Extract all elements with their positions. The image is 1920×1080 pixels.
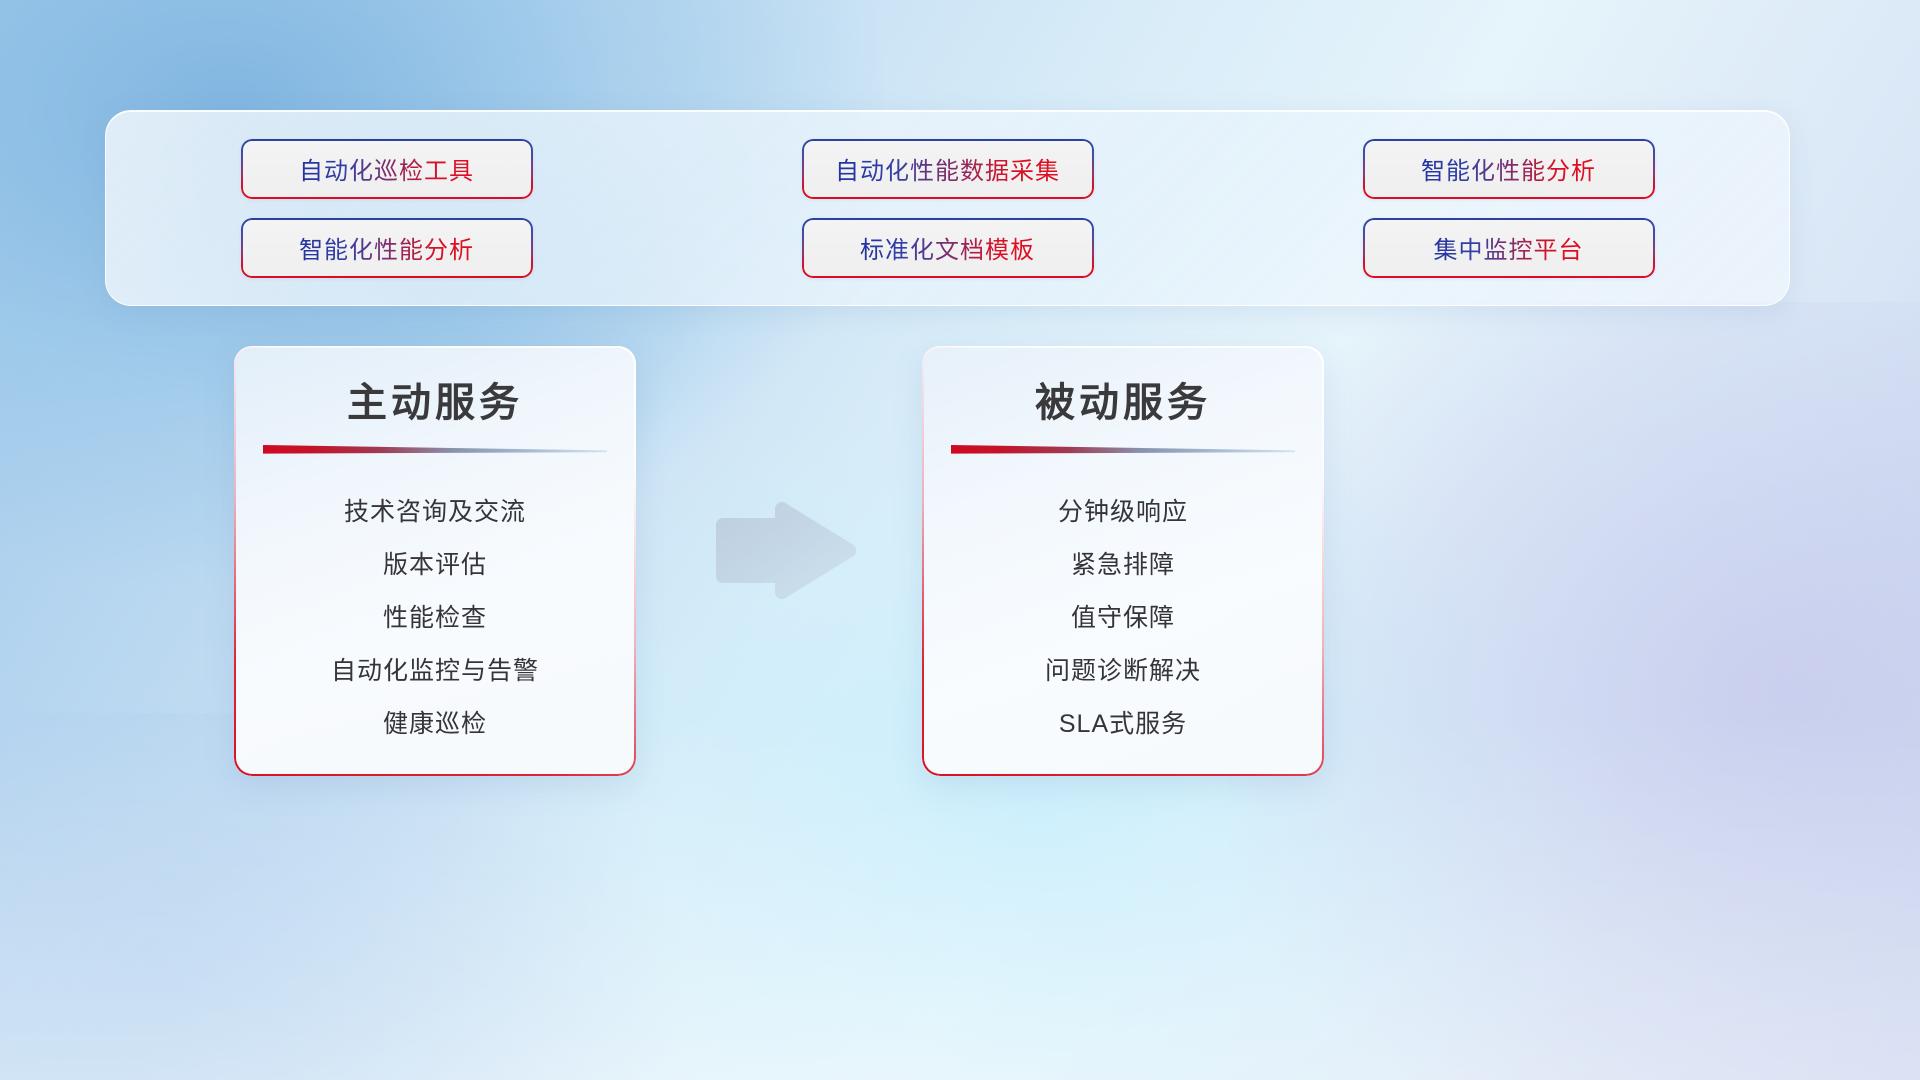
service-item: 健康巡检 <box>383 698 487 751</box>
capability-chip-6[interactable]: 集中监控平台 <box>1363 218 1655 278</box>
service-item: 分钟级响应 <box>1058 486 1188 539</box>
service-item: 自动化监控与告警 <box>331 645 539 698</box>
capability-chip-label: 标准化文档模板 <box>860 230 1035 265</box>
capability-chip-label: 自动化巡检工具 <box>299 151 474 186</box>
capability-chip-3[interactable]: 智能化性能分析 <box>1363 139 1655 199</box>
capability-chip-4[interactable]: 智能化性能分析 <box>241 218 533 278</box>
capability-chip-label: 智能化性能分析 <box>299 230 474 265</box>
capability-chip-1[interactable]: 自动化巡检工具 <box>241 139 533 199</box>
service-card-passive: 被动服务 分钟级响应 紧急排障 值守保障 问题诊断解决 SLA式服务 <box>922 346 1324 776</box>
service-item: 技术咨询及交流 <box>344 486 526 539</box>
capability-chip-2[interactable]: 自动化性能数据采集 <box>802 139 1094 199</box>
capability-chip-label: 集中监控平台 <box>1434 230 1584 265</box>
flow-arrow-right-icon <box>712 498 860 603</box>
capability-chip-5[interactable]: 标准化文档模板 <box>802 218 1094 278</box>
service-card-divider <box>951 444 1295 456</box>
capability-chip-label: 自动化性能数据采集 <box>835 151 1060 186</box>
service-card-item-list: 技术咨询及交流 版本评估 性能检查 自动化监控与告警 健康巡检 <box>234 456 636 751</box>
service-item: 值守保障 <box>1071 592 1175 645</box>
service-item: 紧急排障 <box>1071 539 1175 592</box>
service-item: 性能检查 <box>383 592 487 645</box>
service-card-item-list: 分钟级响应 紧急排障 值守保障 问题诊断解决 SLA式服务 <box>922 456 1324 751</box>
service-item: SLA式服务 <box>1059 698 1187 751</box>
capability-panel: 自动化巡检工具 自动化性能数据采集 智能化性能分析 智能化性能分析 标准化文档模… <box>105 110 1790 306</box>
service-item: 问题诊断解决 <box>1045 645 1201 698</box>
service-card-title: 主动服务 <box>234 346 636 428</box>
service-card-divider <box>263 444 607 456</box>
capability-chip-label: 智能化性能分析 <box>1421 151 1596 186</box>
service-card-active: 主动服务 技术咨询及交流 版本评估 性能检查 自动化监控与告警 健康巡检 <box>234 346 636 776</box>
service-item: 版本评估 <box>383 539 487 592</box>
service-card-title: 被动服务 <box>922 346 1324 428</box>
